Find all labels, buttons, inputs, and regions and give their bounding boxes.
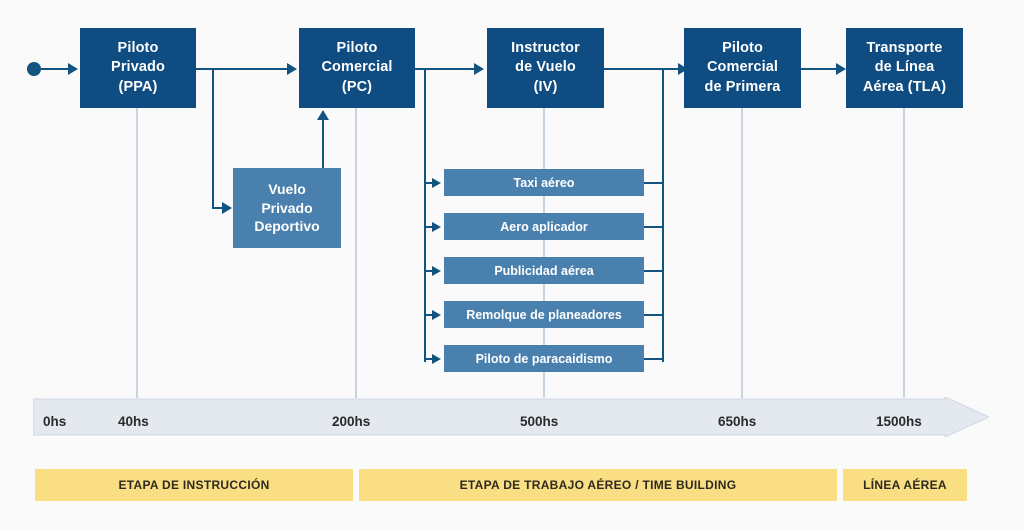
stage-label-iv-line3: (IV) <box>511 78 580 97</box>
stage-label-ppa-line3: (PPA) <box>111 78 165 97</box>
ppa-to-pc-line <box>196 68 288 70</box>
stage-box-piloto-privado[interactable]: Piloto Privado (PPA) <box>80 28 196 108</box>
stage-box-vuelo-privado-deportivo[interactable]: Vuelo Privado Deportivo <box>233 168 341 248</box>
side-box-label-line2: Privado <box>254 199 319 217</box>
job-bar-label: Publicidad aérea <box>494 264 593 278</box>
timeline-tick-label-500hs: 500hs <box>520 414 558 429</box>
stage-label-ppa-line1: Piloto <box>111 39 165 58</box>
job-feed-arrow-icon-4 <box>432 310 441 320</box>
pcp-to-tla-arrow-icon <box>836 63 846 75</box>
job-return-line-3 <box>644 270 664 272</box>
job-bar-taxi-aereo[interactable]: Taxi aéreo <box>444 169 644 196</box>
timeline-tick-label-650hs: 650hs <box>718 414 756 429</box>
job-feed-arrow-icon-1 <box>432 178 441 188</box>
phase-bar-label: LÍNEA AÉREA <box>863 478 947 492</box>
gridline-200hs <box>355 108 357 398</box>
job-bar-piloto-de-paracaidismo[interactable]: Piloto de paracaidismo <box>444 345 644 372</box>
phase-bar-label: ETAPA DE TRABAJO AÉREO / TIME BUILDING <box>460 478 737 492</box>
jobs-collection-spine <box>662 68 664 362</box>
timeline-tick-label-40hs: 40hs <box>118 414 149 429</box>
job-bar-label: Taxi aéreo <box>514 176 575 190</box>
stage-label-pcp-line3: de Primera <box>705 78 781 97</box>
phase-bar-etapa-de-instruccion[interactable]: ETAPA DE INSTRUCCIÓN <box>35 469 353 501</box>
job-bar-publicidad-aerea[interactable]: Publicidad aérea <box>444 257 644 284</box>
vuelo-to-pc-arrow-icon <box>317 110 329 120</box>
iv-to-pcp-line <box>604 68 680 70</box>
ppa-to-pc-arrow-icon <box>287 63 297 75</box>
entry-arrow-icon <box>68 63 78 75</box>
job-bar-label: Aero aplicador <box>500 220 588 234</box>
job-feed-arrow-icon-2 <box>432 222 441 232</box>
stage-box-instructor-de-vuelo[interactable]: Instructor de Vuelo (IV) <box>487 28 604 108</box>
side-box-label-line3: Deportivo <box>254 217 319 235</box>
pc-to-iv-arrow-icon <box>474 63 484 75</box>
stage-label-pc-line2: Comercial <box>321 58 392 77</box>
gridline-650hs <box>741 108 743 398</box>
job-bar-aero-aplicador[interactable]: Aero aplicador <box>444 213 644 240</box>
phase-bar-etapa-de-trabajo-aereo[interactable]: ETAPA DE TRABAJO AÉREO / TIME BUILDING <box>359 469 837 501</box>
ppa-branch-arrow-icon <box>222 202 232 214</box>
ppa-branch-vertical-line <box>212 68 214 209</box>
stage-label-pcp-line2: Comercial <box>705 58 781 77</box>
gridline-40hs <box>136 108 138 398</box>
stage-label-tla-line1: Transporte <box>863 39 946 58</box>
phase-bar-label: ETAPA DE INSTRUCCIÓN <box>118 478 269 492</box>
stage-box-piloto-comercial[interactable]: Piloto Comercial (PC) <box>299 28 415 108</box>
stage-label-ppa-line2: Privado <box>111 58 165 77</box>
start-node-dot <box>27 62 41 76</box>
stage-box-piloto-comercial-de-primera[interactable]: Piloto Comercial de Primera <box>684 28 801 108</box>
timeline-tick-label-0hs: 0hs <box>43 414 66 429</box>
job-return-line-5 <box>644 358 664 360</box>
stage-box-transporte-de-linea-aerea[interactable]: Transporte de Línea Aérea (TLA) <box>846 28 963 108</box>
phase-bar-linea-aerea[interactable]: LÍNEA AÉREA <box>843 469 967 501</box>
side-box-label-line1: Vuelo <box>254 180 319 198</box>
job-bar-label: Piloto de paracaidismo <box>476 352 613 366</box>
stage-label-pcp-line1: Piloto <box>705 39 781 58</box>
jobs-distribution-spine <box>424 68 426 362</box>
stage-label-iv-line2: de Vuelo <box>511 58 580 77</box>
timeline-tick-label-200hs: 200hs <box>332 414 370 429</box>
job-return-line-1 <box>644 182 664 184</box>
job-return-line-4 <box>644 314 664 316</box>
stage-label-iv-line1: Instructor <box>511 39 580 58</box>
gridline-1500hs <box>903 108 905 398</box>
timeline-tick-label-1500hs: 1500hs <box>876 414 922 429</box>
vuelo-to-pc-line <box>322 119 324 169</box>
job-bar-remolque-de-planeadores[interactable]: Remolque de planeadores <box>444 301 644 328</box>
stage-label-tla-line3: Aérea (TLA) <box>863 78 946 97</box>
timeline-arrow <box>33 397 989 437</box>
job-bar-label: Remolque de planeadores <box>466 308 622 322</box>
job-feed-arrow-icon-3 <box>432 266 441 276</box>
flowchart-canvas: Piloto Privado (PPA) Piloto Comercial (P… <box>0 0 1024 530</box>
job-return-line-2 <box>644 226 664 228</box>
stage-label-pc-line3: (PC) <box>321 78 392 97</box>
stage-label-tla-line2: de Línea <box>863 58 946 77</box>
pcp-to-tla-line <box>801 68 839 70</box>
job-feed-arrow-icon-5 <box>432 354 441 364</box>
stage-label-pc-line1: Piloto <box>321 39 392 58</box>
